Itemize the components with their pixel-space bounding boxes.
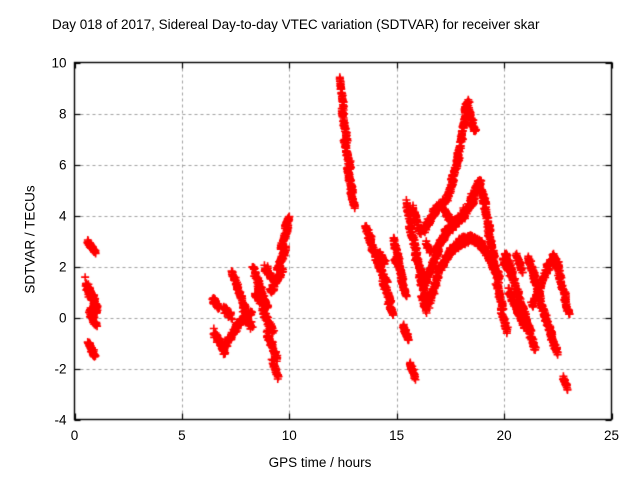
x-tick-label: 0	[71, 428, 79, 443]
y-tick-label: -4	[19, 412, 67, 427]
scatter-plot-canvas	[0, 0, 640, 480]
chart-title: Day 018 of 2017, Sidereal Day-to-day VTE…	[52, 17, 539, 32]
x-tick-label: 5	[178, 428, 186, 443]
y-tick-label: 0	[19, 310, 67, 325]
chart-container: Day 018 of 2017, Sidereal Day-to-day VTE…	[0, 0, 640, 480]
y-tick-label: 2	[19, 259, 67, 274]
x-tick-label: 15	[389, 428, 404, 443]
x-axis-label: GPS time / hours	[0, 455, 640, 470]
y-tick-label: -2	[19, 361, 67, 376]
x-tick-label: 10	[282, 428, 297, 443]
y-tick-label: 6	[19, 157, 67, 172]
y-tick-label: 8	[19, 106, 67, 121]
x-tick-label: 25	[604, 428, 619, 443]
y-tick-label: 4	[19, 208, 67, 223]
y-tick-label: 10	[19, 55, 67, 70]
x-tick-label: 20	[497, 428, 512, 443]
